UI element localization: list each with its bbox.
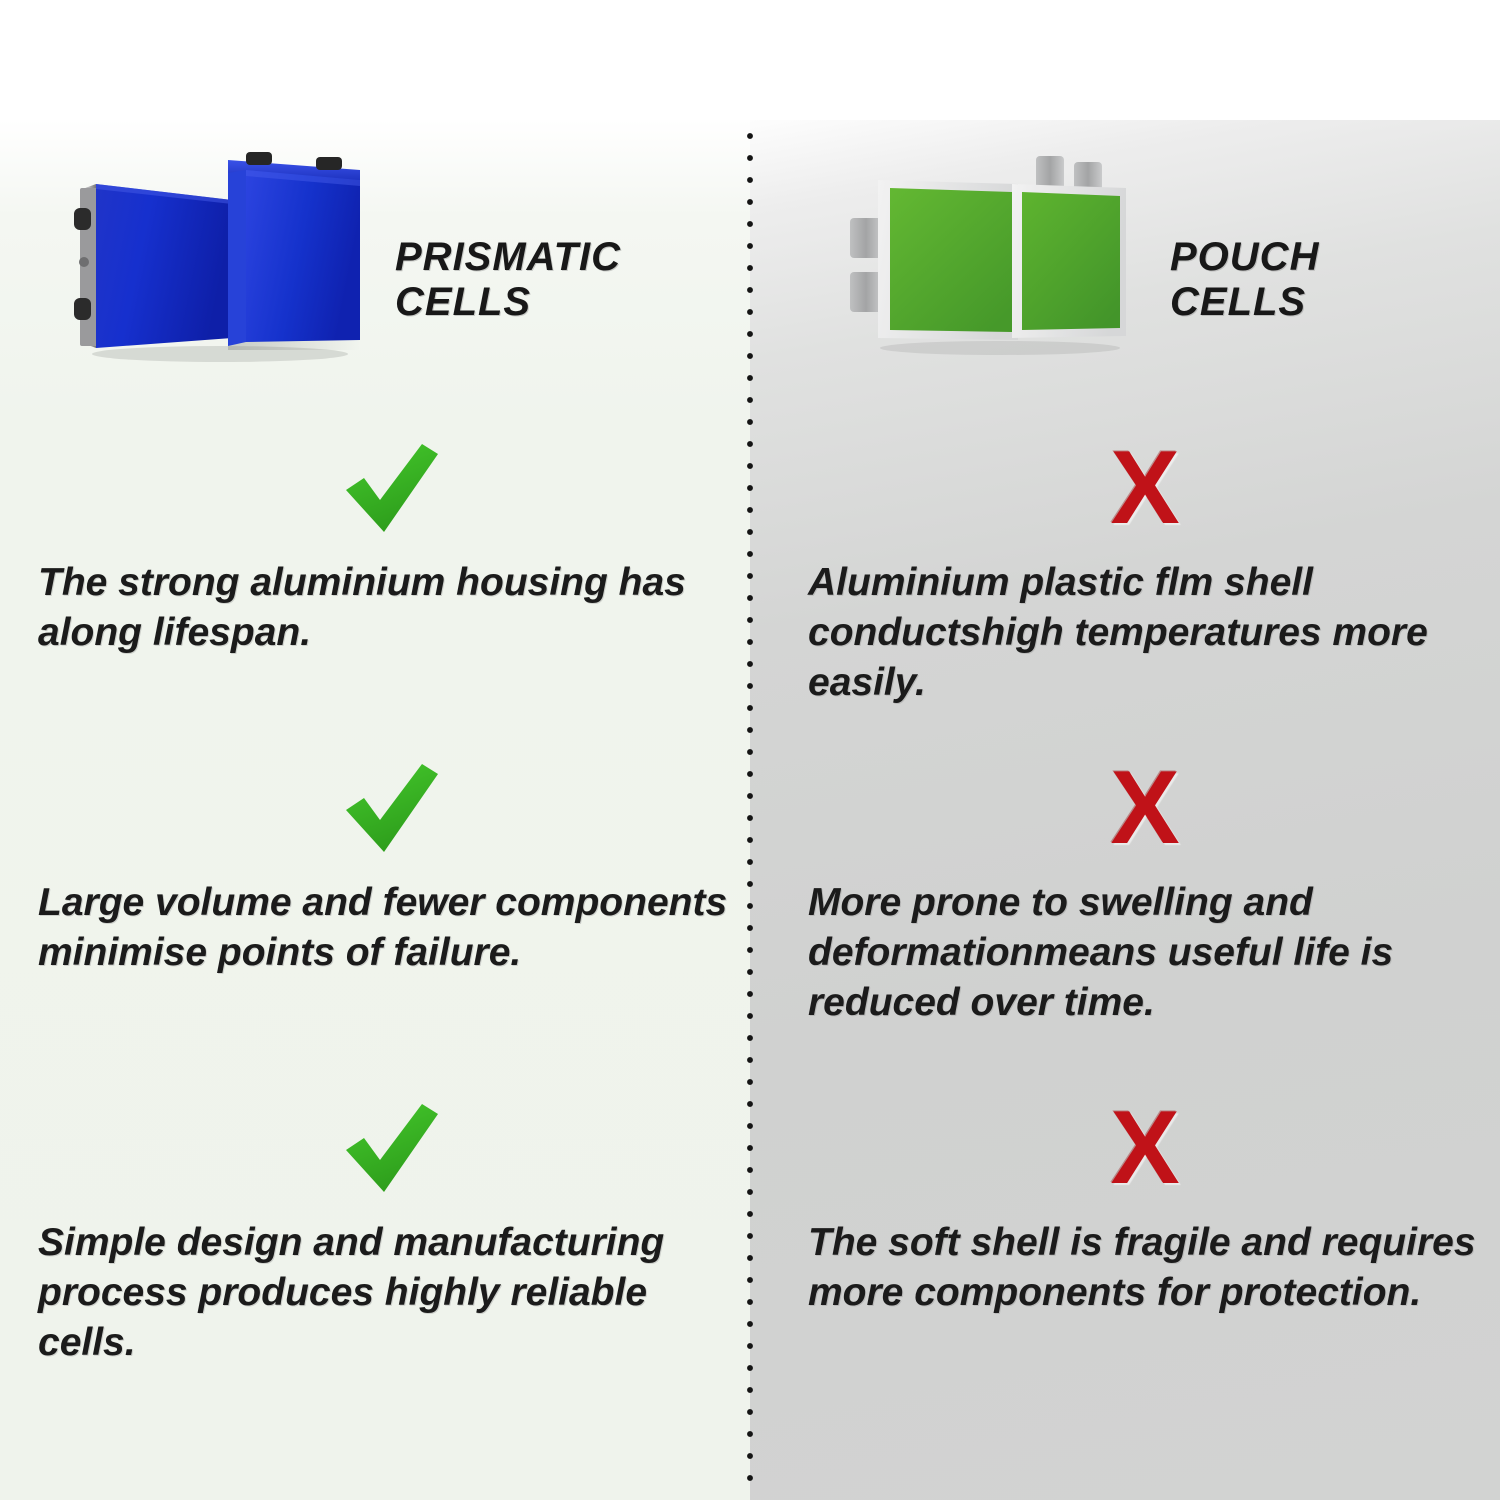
pouch-column: POUCH CELLS X Aluminium plastic flm shel… <box>750 120 1500 1500</box>
cell-comparison-infographic: PRISMATIC CELLS The strong aluminium hou… <box>0 0 1500 1500</box>
prismatic-battery-cells-icon <box>60 140 380 370</box>
check-icon <box>0 440 750 548</box>
cross-icon: X <box>750 760 1500 868</box>
pouch-feature-2-text: More prone to swelling and deformationme… <box>808 878 1483 1028</box>
cross-icon-glyph: X <box>1110 760 1179 856</box>
pouch-battery-cells-icon <box>840 140 1150 370</box>
pouch-header: POUCH CELLS <box>750 140 1500 380</box>
prismatic-title-line-2: CELLS <box>395 280 725 325</box>
pouch-feature-3-text: The soft shell is fragile and requires m… <box>808 1218 1483 1318</box>
check-icon <box>0 1100 750 1208</box>
prismatic-feature-3-text: Simple design and manufacturing process … <box>38 1218 728 1368</box>
prismatic-title-line-1: PRISMATIC <box>395 235 725 280</box>
pouch-feature-1-text: Aluminium plastic flm shell conductshigh… <box>808 558 1483 708</box>
cross-icon: X <box>750 1100 1500 1208</box>
prismatic-feature-1-text: The strong aluminium housing has along l… <box>38 558 728 658</box>
check-icon <box>0 760 750 868</box>
cross-icon: X <box>750 440 1500 548</box>
prismatic-column: PRISMATIC CELLS The strong aluminium hou… <box>0 120 750 1500</box>
pouch-title: POUCH CELLS <box>1170 235 1500 325</box>
cross-icon-glyph: X <box>1110 1100 1179 1196</box>
cross-icon-glyph: X <box>1110 440 1179 536</box>
prismatic-header: PRISMATIC CELLS <box>0 140 750 380</box>
pouch-title-line-1: POUCH <box>1170 235 1500 280</box>
prismatic-feature-2-text: Large volume and fewer components minimi… <box>38 878 728 978</box>
pouch-title-line-2: CELLS <box>1170 280 1500 325</box>
prismatic-title: PRISMATIC CELLS <box>395 235 725 325</box>
column-divider <box>746 132 754 1488</box>
